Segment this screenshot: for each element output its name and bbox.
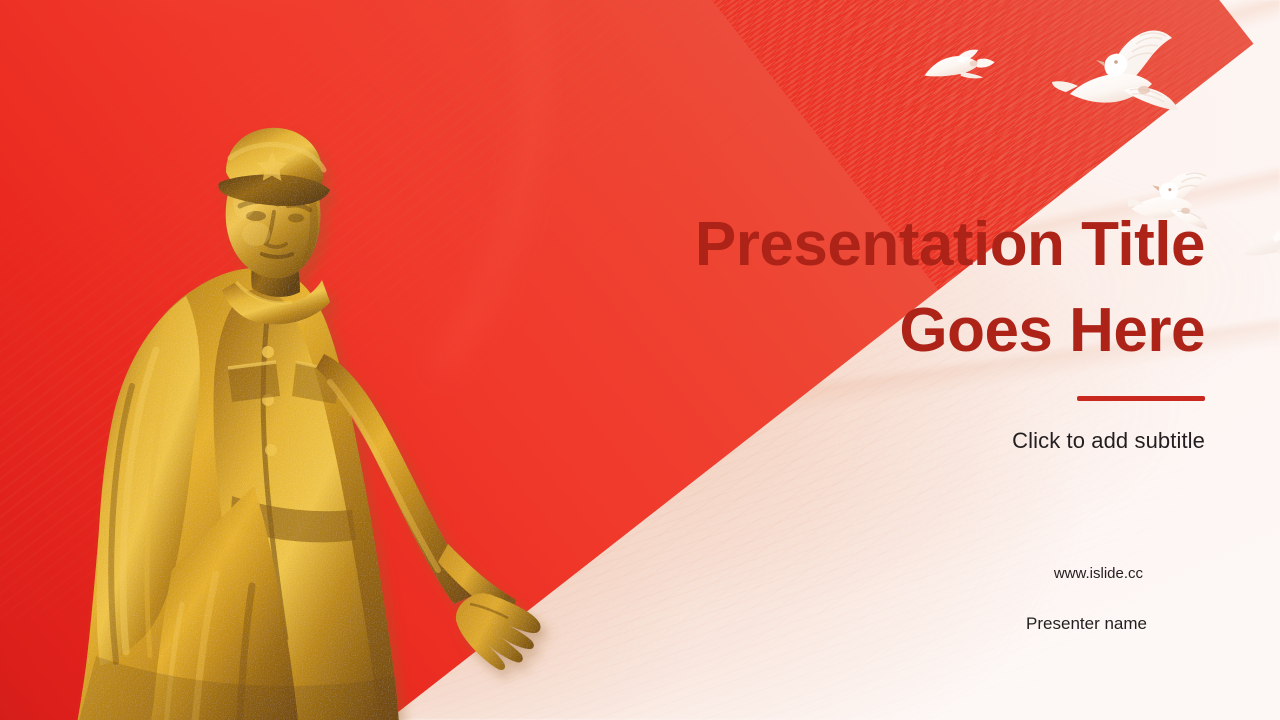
- title-line-1: Presentation Title: [565, 214, 1205, 276]
- subtitle-placeholder[interactable]: Click to add subtitle: [565, 428, 1205, 454]
- page-title[interactable]: Presentation Title Goes Here: [565, 214, 1205, 362]
- meta-block: www.islide.cc Presenter name: [785, 565, 1205, 634]
- presentation-slide: Presentation Title Goes Here Click to ad…: [0, 0, 1280, 720]
- title-divider: [1077, 396, 1205, 401]
- website-label[interactable]: www.islide.cc: [785, 565, 1205, 582]
- title-text-block: Presentation Title Goes Here Click to ad…: [565, 214, 1205, 454]
- title-line-2: Goes Here: [565, 300, 1205, 362]
- presenter-name-label[interactable]: Presenter name: [785, 614, 1205, 634]
